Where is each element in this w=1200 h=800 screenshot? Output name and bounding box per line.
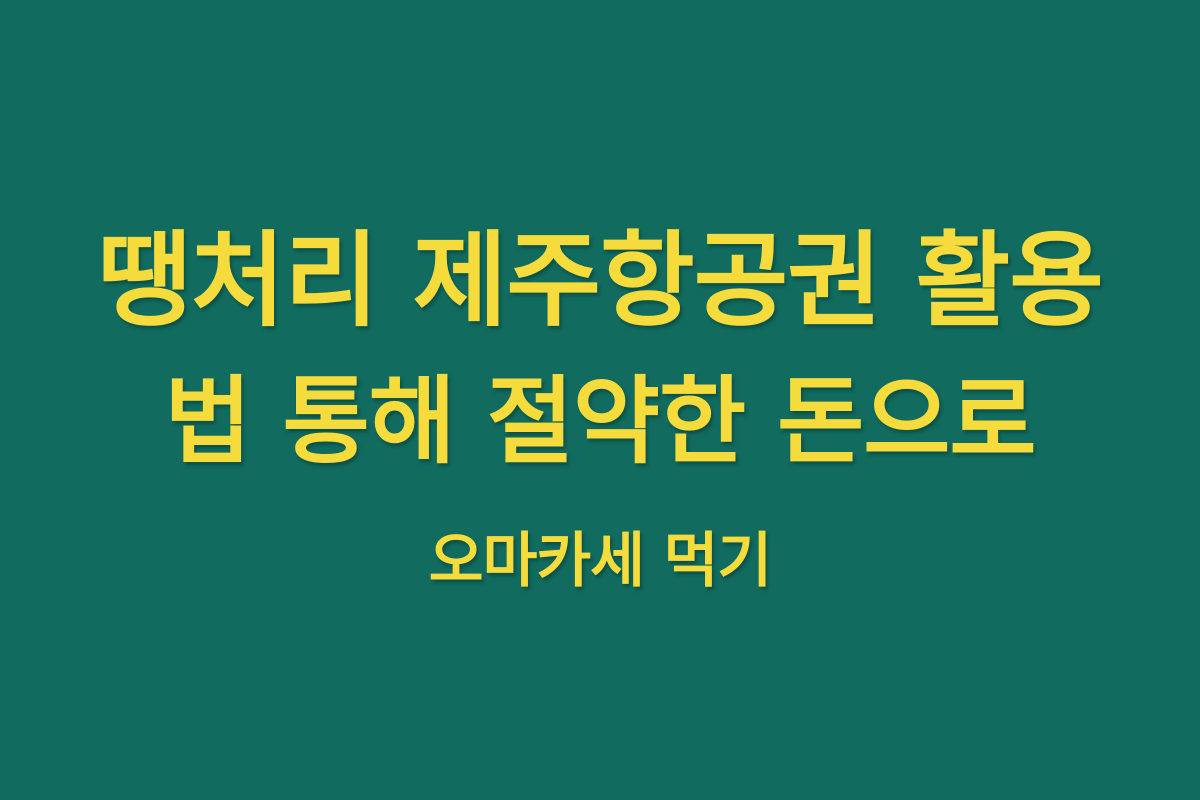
- headline-line-3: 오마카세 먹기: [50, 492, 1150, 632]
- thumbnail-canvas: 땡처리 제주항공권 활용 법 통해 절약한 돈으로 오마카세 먹기: [0, 0, 1200, 800]
- headline-line-1: 땡처리 제주항공권 활용: [50, 212, 1150, 352]
- headline-line-2: 법 통해 절약한 돈으로: [50, 352, 1150, 492]
- headline-block: 땡처리 제주항공권 활용 법 통해 절약한 돈으로 오마카세 먹기: [50, 212, 1150, 632]
